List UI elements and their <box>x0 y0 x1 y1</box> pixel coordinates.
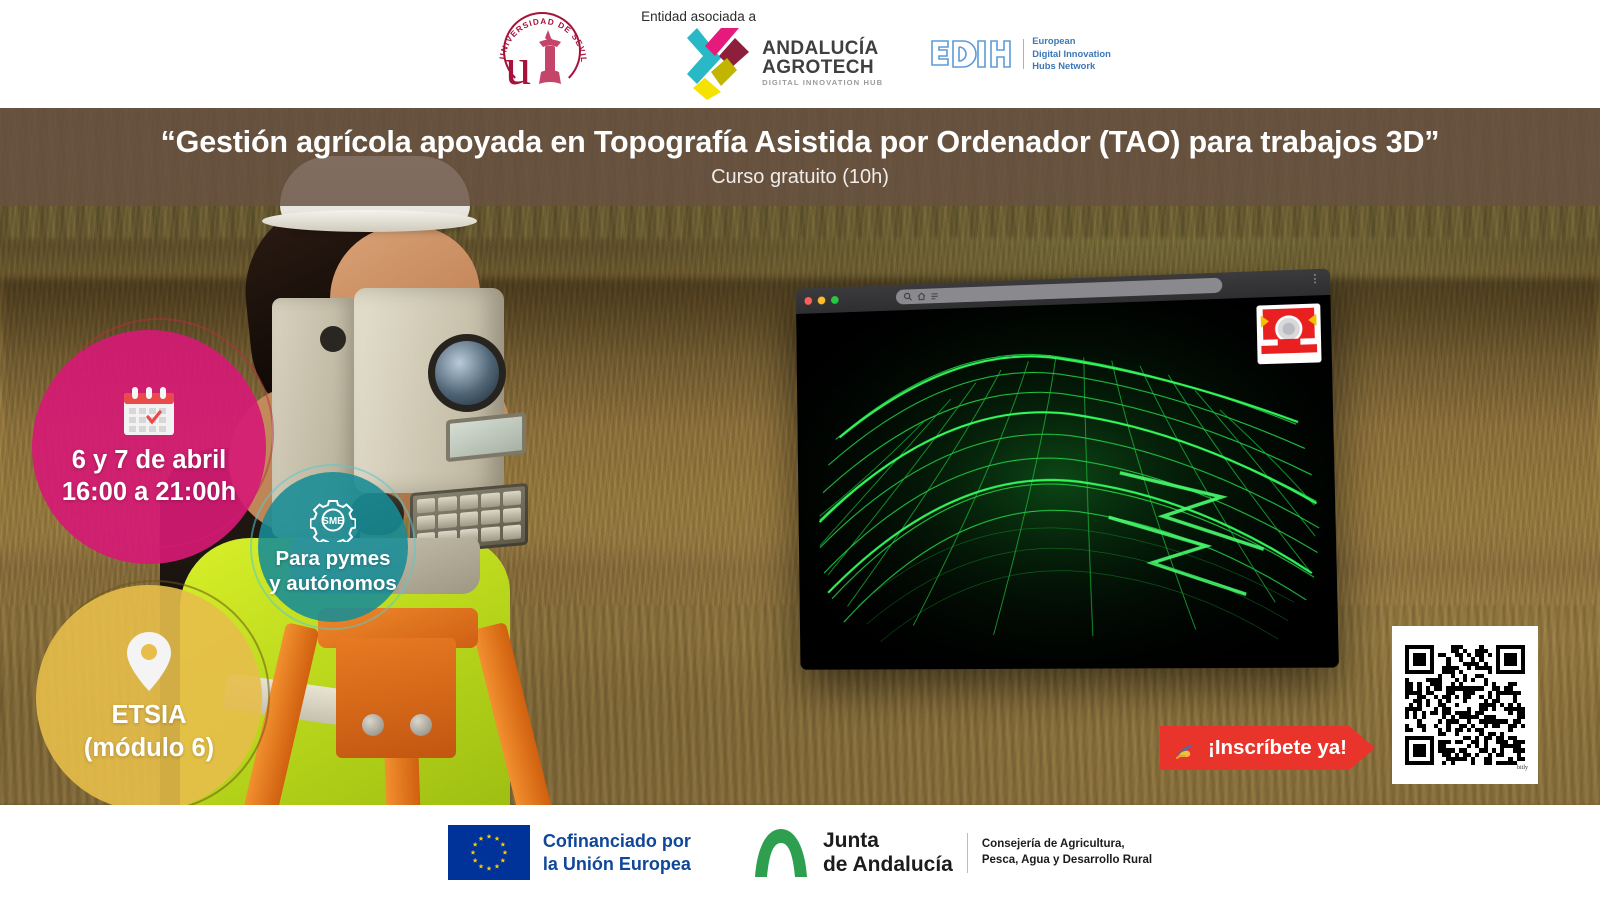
agrotech-line1: ANDALUCÍA <box>762 39 883 58</box>
audience-badge-text: Para pymes y autónomos <box>269 547 397 596</box>
reader-icon[interactable] <box>931 292 939 300</box>
audience-badge-line2: y autónomos <box>269 572 397 597</box>
audience-badge-line1: Para pymes <box>269 547 397 572</box>
andalucia-agrotech-block: Entidad asociada a ANDALUCÍA AGROTECH DI… <box>639 9 883 100</box>
tripod-plate <box>336 638 456 758</box>
junta-de-andalucia-logo: Junta de Andalucía Consejería de Agricul… <box>753 827 1152 879</box>
edih-line2: Digital Innovation <box>1032 48 1111 60</box>
location-badge: ETSIA (módulo 6) <box>36 585 262 811</box>
tripod-bolt-right <box>410 714 432 736</box>
edih-logo: European Digital Innovation Hubs Network <box>929 35 1111 72</box>
agrotech-chevron-mark-icon <box>681 26 755 100</box>
date-badge-line1: 6 y 7 de abril <box>62 445 236 477</box>
close-window-button[interactable] <box>804 297 812 305</box>
edih-wordmark-icon <box>929 37 1015 71</box>
header-logo-bar: UNIVERSIDAD DE SEVILLA u Entidad asociad… <box>0 0 1600 108</box>
european-union-flag <box>448 825 530 880</box>
writing-hand-icon <box>1176 737 1200 759</box>
poster-root: UNIVERSIDAD DE SEVILLA u Entidad asociad… <box>0 0 1600 900</box>
associated-entity-label: Entidad asociada a <box>639 9 756 24</box>
qr-code[interactable] <box>1405 645 1525 765</box>
agrotech-logo-row: ANDALUCÍA AGROTECH DIGITAL INNOVATION HU… <box>639 26 883 100</box>
location-badge-line2: (módulo 6) <box>84 732 214 765</box>
window-traffic-lights[interactable] <box>804 296 838 305</box>
surveying-prism-logo <box>1256 303 1321 364</box>
junta-dept-line1: Consejería de Agricultura, <box>982 837 1152 853</box>
home-icon[interactable] <box>917 292 926 301</box>
theodolite-display <box>446 412 526 462</box>
tripod-bolt-left <box>362 714 384 736</box>
sme-gear-icon: SME <box>310 498 356 542</box>
junta-dept-line2: Pesca, Agua y Desarrollo Rural <box>982 853 1152 869</box>
date-badge-text: 6 y 7 de abril 16:00 a 21:00h <box>62 445 236 509</box>
audience-badge: SME Para pymes y autónomos <box>258 472 408 622</box>
date-badge-line2: 16:00 a 21:00h <box>62 477 236 509</box>
edih-line1: European <box>1032 35 1111 47</box>
agrotech-wordmark: ANDALUCÍA AGROTECH DIGITAL INNOVATION HU… <box>762 39 883 87</box>
page-title: “Gestión agrícola apoyada en Topografía … <box>161 126 1440 160</box>
junta-line2: de Andalucía <box>823 853 953 876</box>
3d-canvas[interactable] <box>796 295 1339 670</box>
maximize-window-button[interactable] <box>831 296 839 304</box>
sme-gear-label: SME <box>322 516 344 527</box>
location-badge-text: ETSIA (módulo 6) <box>84 699 214 764</box>
location-badge-line1: ETSIA <box>84 699 214 732</box>
edih-subtitle: European Digital Innovation Hubs Network <box>1032 35 1111 72</box>
register-cta-label: ¡Inscríbete ya! <box>1208 736 1347 760</box>
qr-code-panel[interactable]: bitly <box>1392 626 1538 784</box>
theodolite-objective-lens <box>428 334 506 412</box>
agrotech-line2: AGROTECH <box>762 58 883 77</box>
eu-stars-icon <box>448 825 530 880</box>
junta-divider <box>967 833 968 873</box>
eu-line1: Cofinanciado por <box>543 830 691 852</box>
agrotech-tagline: DIGITAL INNOVATION HUB <box>762 79 883 87</box>
surveyor-hard-hat-brim <box>262 210 477 232</box>
junta-arch-icon <box>753 827 809 879</box>
title-banner: “Gestión agrícola apoyada en Topografía … <box>0 108 1600 206</box>
qr-brand-label: bitly <box>1517 765 1528 771</box>
date-badge: 6 y 7 de abril 16:00 a 21:00h <box>32 330 266 564</box>
3d-viewer-window[interactable]: ⋮ <box>796 268 1339 669</box>
edih-divider <box>1023 39 1024 69</box>
junta-line1: Junta <box>823 829 953 852</box>
map-pin-icon <box>125 631 173 693</box>
theodolite-eyepiece <box>320 326 346 352</box>
calendar-icon <box>121 386 177 438</box>
seal-monogram: u <box>505 42 531 94</box>
register-cta-button[interactable]: ¡Inscríbete ya! <box>1160 726 1375 770</box>
footer-logo-bar: Cofinanciado por la Unión Europea Junta … <box>0 805 1600 900</box>
tripod-leg-right <box>473 622 579 805</box>
page-subtitle: Curso gratuito (10h) <box>711 166 889 188</box>
edih-line3: Hubs Network <box>1032 60 1111 72</box>
prism-logo-icon <box>1256 303 1321 364</box>
eu-line2: la Unión Europea <box>543 853 691 875</box>
junta-department: Consejería de Agricultura, Pesca, Agua y… <box>982 837 1152 868</box>
search-icon[interactable] <box>904 292 913 301</box>
eu-funding-text: Cofinanciado por la Unión Europea <box>543 830 691 875</box>
kebab-menu-icon[interactable]: ⋮ <box>1309 276 1321 283</box>
european-union-logo: Cofinanciado por la Unión Europea <box>448 825 691 880</box>
minimize-window-button[interactable] <box>818 296 826 304</box>
giralda-crest-icon <box>533 28 567 88</box>
universidad-de-sevilla-logo: UNIVERSIDAD DE SEVILLA u <box>489 10 593 98</box>
junta-name: Junta de Andalucía <box>823 829 953 875</box>
